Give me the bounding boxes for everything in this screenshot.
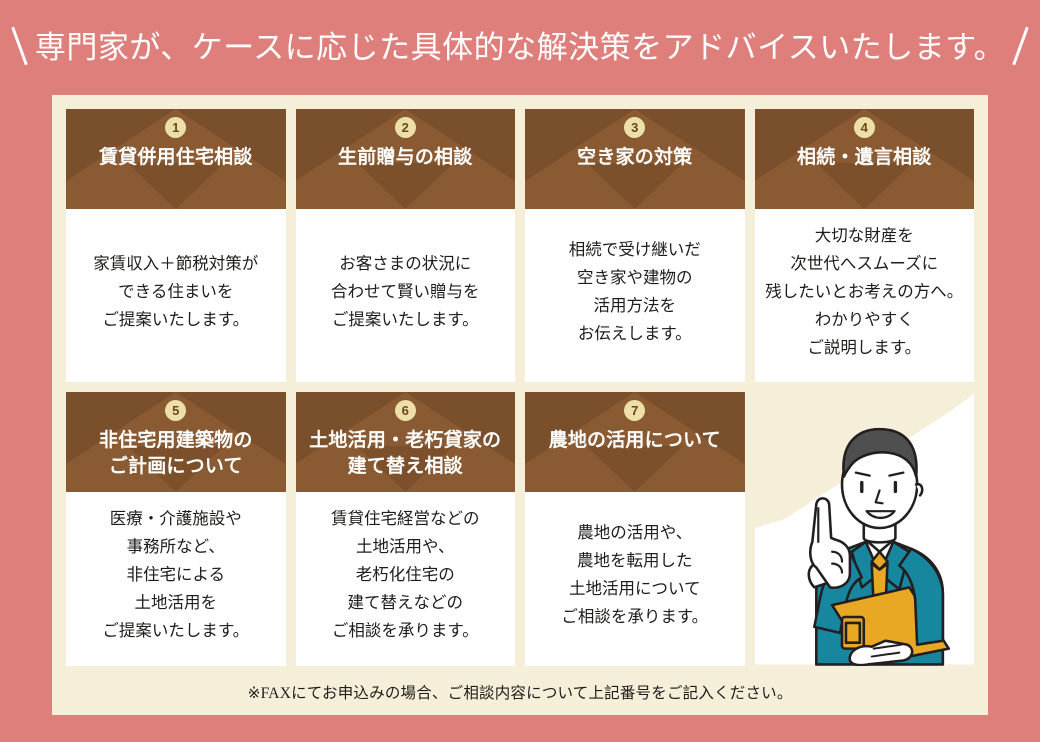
- card-6-title-line-2: 建て替え相談: [309, 454, 501, 480]
- card-6-body-line-4: 建て替えなどの: [348, 589, 464, 617]
- card-1[interactable]: 1 賃貸併用住宅相談 家賃収入＋節税対策が できる住まいを ご提案いたします。: [66, 109, 286, 382]
- content-panel: 1 賃貸併用住宅相談 家賃収入＋節税対策が できる住まいを ご提案いたします。 …: [52, 95, 988, 715]
- card-7-body: 農地の活用や、 農地を転用した 土地活用について ご相談を承ります。: [525, 492, 745, 666]
- card-3-title: 空き家の対策: [571, 145, 698, 171]
- card-7-title: 農地の活用について: [543, 428, 727, 454]
- card-4-body-line-4: わかりやすく: [815, 306, 914, 334]
- businessman-pointing-icon: [755, 392, 975, 666]
- card-3-body-line-1: 相続で受け継いだ: [569, 236, 701, 264]
- card-1-title-line-1: 賃貸併用住宅相談: [99, 145, 253, 171]
- card-5-title-line-1: 非住宅用建築物の: [99, 428, 253, 454]
- card-3-body-line-3: 活用方法を: [594, 292, 677, 320]
- card-5-body-line-4: 土地活用を: [135, 589, 218, 617]
- card-7-header: 7 農地の活用について: [525, 392, 745, 492]
- card-7-body-line-1: 農地の活用や、: [577, 519, 692, 547]
- card-1-body-line-2: できる住まいを: [118, 278, 233, 306]
- card-2-title: 生前贈与の相談: [332, 145, 478, 171]
- card-3-body: 相続で受け継いだ 空き家や建物の 活用方法を お伝えします。: [525, 209, 745, 382]
- card-1-body: 家賃収入＋節税対策が できる住まいを ご提案いたします。: [66, 209, 286, 382]
- card-1-number-badge: 1: [165, 117, 186, 138]
- card-6-body-line-3: 老朽化住宅の: [356, 561, 455, 589]
- card-4-body-line-1: 大切な財産を: [815, 222, 914, 250]
- card-4-title-line-1: 相続・遺言相談: [797, 145, 931, 171]
- card-3-body-line-4: お伝えします。: [578, 320, 692, 348]
- card-2-body-line-2: 合わせて賢い贈与を: [331, 278, 480, 306]
- header-slash-left-icon: [11, 26, 27, 65]
- card-1-body-line-1: 家賃収入＋節税対策が: [93, 250, 258, 278]
- card-2-header: 2 生前贈与の相談: [296, 109, 516, 209]
- card-3-body-line-2: 空き家や建物の: [577, 264, 693, 292]
- card-4-number-badge: 4: [854, 117, 875, 138]
- card-5-title-line-2: ご計画について: [99, 454, 253, 480]
- card-4-header: 4 相続・遺言相談: [755, 109, 975, 209]
- card-7[interactable]: 7 農地の活用について 農地の活用や、 農地を転用した 土地活用について ご相談…: [525, 392, 745, 666]
- card-6[interactable]: 6 土地活用・老朽貸家の 建て替え相談 賃貸住宅経営などの 土地活用や、 老朽化…: [296, 392, 516, 666]
- card-7-number-badge: 7: [624, 400, 645, 421]
- header-slash-right-icon: [1012, 26, 1028, 65]
- card-5-body-line-5: ご提案いたします。: [102, 617, 249, 645]
- card-6-body-line-1: 賃貸住宅経営などの: [331, 505, 480, 533]
- card-6-body-line-5: ご相談を承ります。: [332, 617, 479, 645]
- card-3[interactable]: 3 空き家の対策 相続で受け継いだ 空き家や建物の 活用方法を お伝えします。: [525, 109, 745, 382]
- card-6-body: 賃貸住宅経営などの 土地活用や、 老朽化住宅の 建て替えなどの ご相談を承ります…: [296, 492, 516, 666]
- card-3-number-badge: 3: [624, 117, 645, 138]
- card-4[interactable]: 4 相続・遺言相談 大切な財産を 次世代へスムーズに 残したいとお考えの方へ。 …: [755, 109, 975, 382]
- card-6-header: 6 土地活用・老朽貸家の 建て替え相談: [296, 392, 516, 492]
- card-7-title-line-1: 農地の活用について: [549, 428, 721, 454]
- card-2-body: お客さまの状況に 合わせて賢い贈与を ご提案いたします。: [296, 209, 516, 382]
- card-3-header: 3 空き家の対策: [525, 109, 745, 209]
- card-6-number-badge: 6: [395, 400, 416, 421]
- card-2[interactable]: 2 生前贈与の相談 お客さまの状況に 合わせて賢い贈与を ご提案いたします。: [296, 109, 516, 382]
- card-5-title: 非住宅用建築物の ご計画について: [93, 428, 259, 480]
- card-4-body-line-3: 残したいとお考えの方へ。: [765, 278, 963, 306]
- page-title: 専門家が、ケースに応じた具体的な解決策をアドバイスいたします。: [35, 32, 1005, 63]
- card-1-header: 1 賃貸併用住宅相談: [66, 109, 286, 209]
- card-2-body-line-3: ご提案いたします。: [332, 306, 479, 334]
- card-5-header: 5 非住宅用建築物の ご計画について: [66, 392, 286, 492]
- card-7-body-line-3: 土地活用について: [569, 575, 701, 603]
- card-6-title: 土地活用・老朽貸家の 建て替え相談: [303, 428, 507, 480]
- card-3-title-line-1: 空き家の対策: [577, 145, 692, 171]
- card-4-body-line-2: 次世代へスムーズに: [790, 250, 938, 278]
- card-5-body-line-3: 非住宅による: [126, 561, 225, 589]
- card-6-title-line-1: 土地活用・老朽貸家の: [309, 428, 501, 454]
- card-6-body-line-2: 土地活用や、: [356, 533, 455, 561]
- card-2-number-badge: 2: [395, 117, 416, 138]
- card-7-body-line-4: ご相談を承ります。: [561, 603, 708, 631]
- card-5-body-line-1: 医療・介護施設や: [110, 505, 242, 533]
- page-header: 専門家が、ケースに応じた具体的な解決策をアドバイスいたします。: [0, 0, 1040, 95]
- card-5-body: 医療・介護施設や 事務所など、 非住宅による 土地活用を ご提案いたします。: [66, 492, 286, 666]
- card-7-body-line-2: 農地を転用した: [577, 547, 693, 575]
- card-5-number-badge: 5: [165, 400, 186, 421]
- cards-grid: 1 賃貸併用住宅相談 家賃収入＋節税対策が できる住まいを ご提案いたします。 …: [66, 109, 974, 666]
- card-5[interactable]: 5 非住宅用建築物の ご計画について 医療・介護施設や 事務所など、 非住宅によ…: [66, 392, 286, 666]
- card-2-title-line-1: 生前贈与の相談: [338, 145, 472, 171]
- card-4-title: 相続・遺言相談: [791, 145, 937, 171]
- card-2-body-line-1: お客さまの状況に: [339, 250, 471, 278]
- card-1-title: 賃貸併用住宅相談: [93, 145, 259, 171]
- card-4-body: 大切な財産を 次世代へスムーズに 残したいとお考えの方へ。 わかりやすく ご説明…: [755, 209, 975, 382]
- card-1-body-line-3: ご提案いたします。: [102, 306, 249, 334]
- card-4-body-line-5: ご説明します。: [807, 334, 921, 362]
- fax-note: ※FAXにてお申込みの場合、ご相談内容について上記番号をご記入ください。: [52, 681, 988, 703]
- card-5-body-line-2: 事務所など、: [127, 533, 225, 561]
- businessman-illustration: [755, 392, 975, 666]
